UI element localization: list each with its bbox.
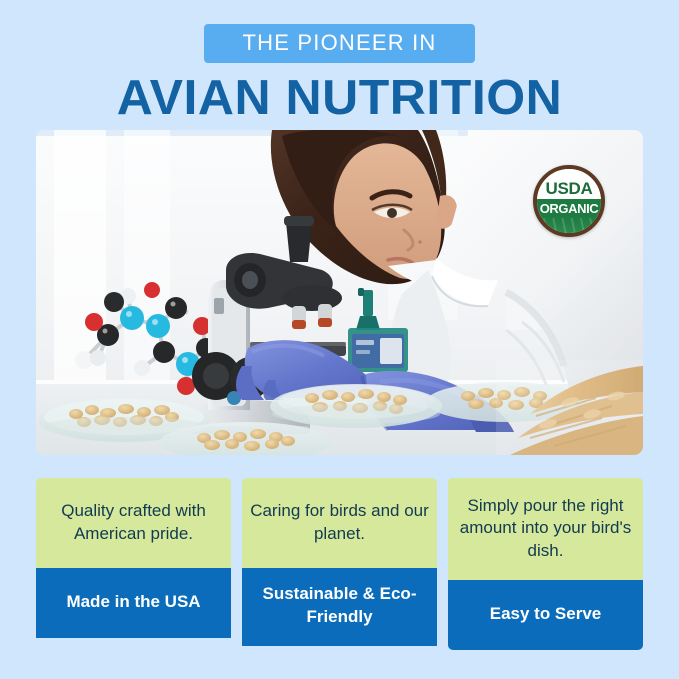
usda-badge-top: USDA: [537, 169, 601, 199]
usda-badge-line2: ORGANIC: [540, 201, 599, 217]
feature-card-sustainable: Caring for birds and our planet. Sustain…: [242, 478, 437, 650]
usda-badge-line1: USDA: [546, 180, 593, 197]
feature-cards: Quality crafted with American pride. Mad…: [36, 478, 643, 650]
feature-card-label: Sustainable & Eco-Friendly: [242, 568, 437, 646]
feature-card-easy-to-serve: Simply pour the right amount into your b…: [448, 478, 643, 650]
page-title: AVIAN NUTRITION: [0, 74, 679, 123]
usda-badge-bottom: ORGANIC: [537, 199, 601, 233]
feature-card-description: Simply pour the right amount into your b…: [448, 478, 643, 580]
feature-card-description: Quality crafted with American pride.: [36, 478, 231, 568]
header: THE PIONEER IN AVIAN NUTRITION: [0, 0, 679, 123]
eyebrow-banner: THE PIONEER IN: [204, 24, 474, 63]
hero-photo: USDA ORGANIC: [36, 130, 643, 455]
feature-card-description: Caring for birds and our planet.: [242, 478, 437, 568]
usda-organic-badge: USDA ORGANIC: [533, 165, 605, 237]
feature-card-label: Easy to Serve: [448, 580, 643, 650]
feature-card-label: Made in the USA: [36, 568, 231, 638]
feature-card-made-in-usa: Quality crafted with American pride. Mad…: [36, 478, 231, 650]
